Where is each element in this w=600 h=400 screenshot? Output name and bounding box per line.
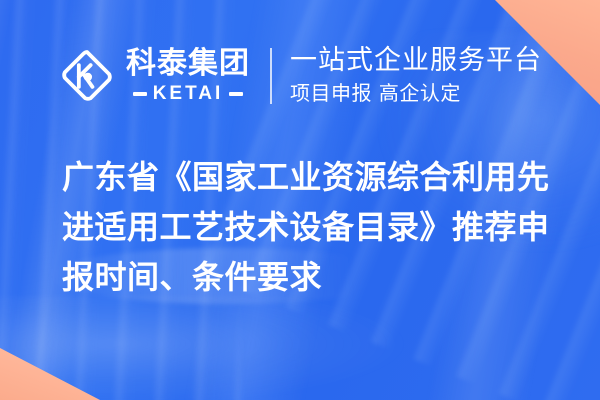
ketai-diamond-k-icon bbox=[58, 47, 116, 105]
dash-left-icon bbox=[133, 92, 147, 96]
banner-header: 科泰集团 KETAI 一站式企业服务平台 项目申报 高企认定 bbox=[58, 40, 542, 112]
dash-right-icon bbox=[229, 92, 243, 96]
brand-wordmark: 科泰集团 KETAI bbox=[126, 49, 250, 103]
slogan-secondary: 项目申报 高企认定 bbox=[290, 81, 542, 106]
brand-name-en: KETAI bbox=[153, 84, 224, 103]
header-divider bbox=[270, 48, 272, 104]
promo-banner: 科泰集团 KETAI 一站式企业服务平台 项目申报 高企认定 广东省《国家工业资… bbox=[0, 0, 600, 400]
headline-line-2: 进适用工艺技术设备目录》推荐申 bbox=[62, 202, 554, 252]
headline-line-1: 广东省《国家工业资源综合利用先 bbox=[62, 152, 554, 202]
brand-name-cn: 科泰集团 bbox=[126, 49, 250, 79]
headline-line-3: 报时间、条件要求 bbox=[62, 252, 554, 302]
slogan-primary: 一站式企业服务平台 bbox=[290, 46, 542, 76]
brand-logo[interactable]: 科泰集团 KETAI bbox=[58, 47, 250, 105]
brand-name-en-row: KETAI bbox=[126, 84, 250, 103]
ketai-logo-dot bbox=[84, 73, 92, 81]
headline-block: 广东省《国家工业资源综合利用先 进适用工艺技术设备目录》推荐申 报时间、条件要求 bbox=[62, 152, 554, 302]
slogan-block: 一站式企业服务平台 项目申报 高企认定 bbox=[290, 46, 542, 107]
